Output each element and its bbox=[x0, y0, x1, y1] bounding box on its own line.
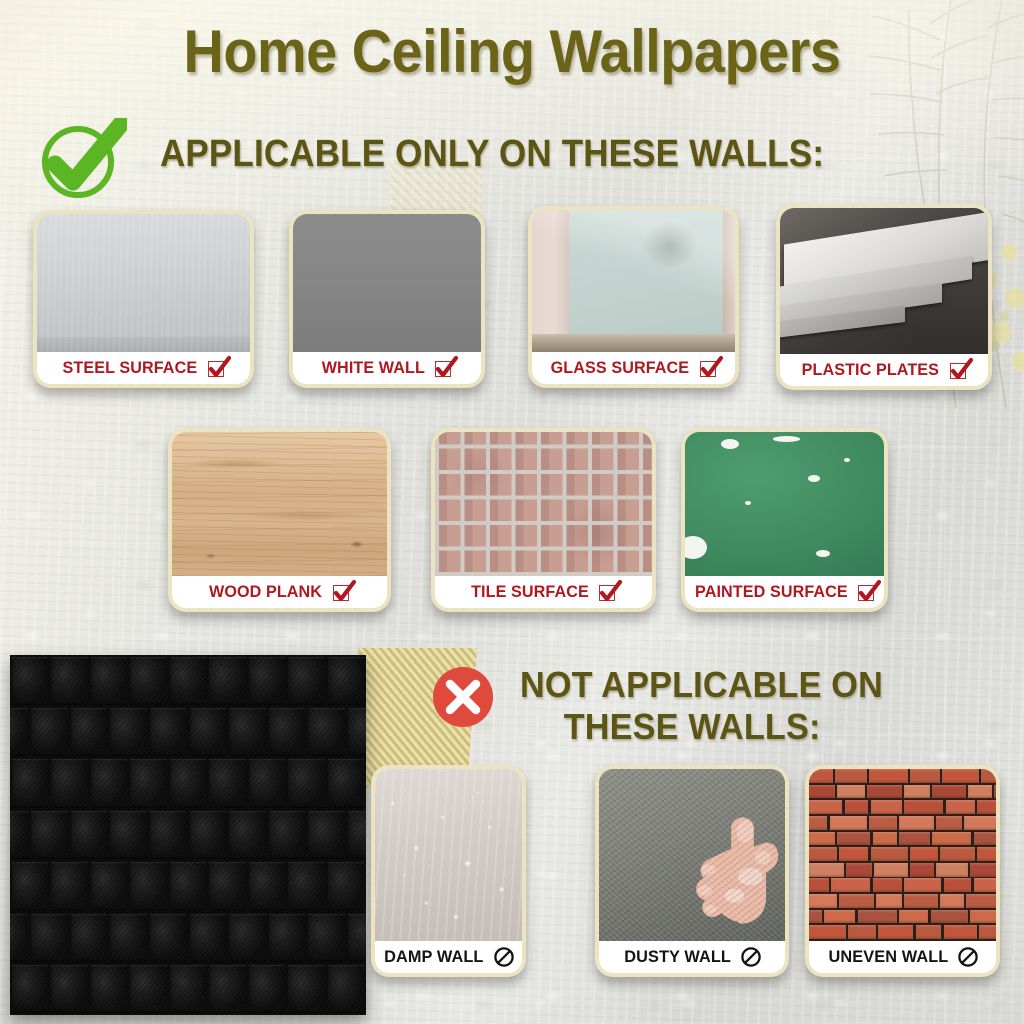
black-brick-foam-panel bbox=[10, 655, 366, 1015]
brick bbox=[936, 816, 962, 830]
brick bbox=[916, 925, 942, 939]
red-checkbox-icon bbox=[435, 359, 455, 378]
brick bbox=[910, 863, 934, 877]
brick bbox=[837, 785, 865, 799]
brick bbox=[809, 800, 842, 814]
tile-damp-wall[interactable]: DAMP WALL bbox=[371, 765, 526, 977]
tile-uneven-wall[interactable]: UNEVEN WALL bbox=[805, 765, 1000, 977]
brick bbox=[873, 832, 897, 846]
brick bbox=[899, 910, 929, 924]
tile-image-tile-surface bbox=[435, 432, 652, 576]
tile-label-glass-surface: GLASS SURFACE bbox=[532, 352, 735, 384]
tile-image-white-wall bbox=[293, 214, 481, 352]
brick bbox=[839, 847, 869, 861]
brick bbox=[837, 832, 870, 846]
brick bbox=[809, 925, 846, 939]
brick bbox=[968, 785, 992, 799]
brick bbox=[809, 878, 829, 892]
tile-white-wall[interactable]: WHITE WALL bbox=[289, 210, 485, 388]
brick bbox=[932, 785, 965, 799]
brick bbox=[848, 925, 876, 939]
not-applicable-heading: NOT APPLICABLE ON THESE WALLS: bbox=[520, 664, 976, 749]
brick bbox=[981, 769, 996, 783]
tile-image-steel-surface bbox=[37, 214, 250, 352]
brick bbox=[966, 894, 996, 908]
brick bbox=[970, 910, 996, 924]
brick bbox=[809, 785, 835, 799]
brick bbox=[910, 769, 940, 783]
brick bbox=[974, 878, 996, 892]
tile-label-white-wall: WHITE WALL bbox=[293, 352, 481, 384]
brick bbox=[835, 769, 866, 783]
brick bbox=[942, 769, 979, 783]
brick bbox=[809, 863, 844, 877]
brick bbox=[994, 785, 996, 799]
brick bbox=[830, 816, 867, 830]
brick bbox=[964, 816, 996, 830]
tile-label-dusty-wall: DUSTY WALL bbox=[599, 941, 785, 973]
tile-label-text: TILE SURFACE bbox=[471, 582, 589, 602]
brick bbox=[858, 910, 897, 924]
tile-image-glass-surface bbox=[532, 210, 735, 352]
brick bbox=[936, 863, 967, 877]
brick bbox=[977, 800, 996, 814]
tile-label-text: DUSTY WALL bbox=[624, 947, 731, 967]
brick bbox=[869, 816, 897, 830]
brick bbox=[946, 800, 976, 814]
tile-label-wood-plank: WOOD PLANK bbox=[172, 576, 387, 608]
not-applicable-heading-line2: THESE WALLS: bbox=[520, 706, 976, 748]
no-entry-icon bbox=[957, 946, 979, 968]
tile-label-damp-wall: DAMP WALL bbox=[375, 941, 522, 973]
tile-label-painted-surface: PAINTED SURFACE bbox=[685, 576, 884, 608]
red-checkbox-icon bbox=[950, 361, 970, 380]
tile-label-text: PAINTED SURFACE bbox=[695, 582, 848, 602]
brick bbox=[974, 832, 996, 846]
brick bbox=[839, 894, 874, 908]
brick bbox=[932, 832, 971, 846]
applicable-heading: APPLICABLE ONLY ON THESE WALLS: bbox=[160, 133, 824, 176]
tile-painted-surface[interactable]: PAINTED SURFACE bbox=[681, 428, 888, 612]
brick bbox=[876, 894, 902, 908]
tile-image-painted-surface bbox=[685, 432, 884, 576]
brick bbox=[931, 910, 968, 924]
hand-illustration bbox=[677, 793, 785, 924]
brick bbox=[873, 878, 903, 892]
brick bbox=[846, 863, 872, 877]
brick bbox=[940, 847, 975, 861]
tile-label-tile-surface: TILE SURFACE bbox=[435, 576, 652, 608]
tile-label-plastic-plates: PLASTIC PLATES bbox=[780, 354, 988, 386]
tile-label-text: DAMP WALL bbox=[384, 947, 483, 967]
tile-image-wood-plank bbox=[172, 432, 387, 576]
tile-label-text: WHITE WALL bbox=[322, 358, 425, 378]
brick bbox=[809, 769, 833, 783]
brick bbox=[979, 925, 996, 939]
tile-glass-surface[interactable]: GLASS SURFACE bbox=[528, 206, 739, 388]
brick bbox=[899, 832, 930, 846]
red-checkbox-icon bbox=[858, 583, 878, 602]
brick bbox=[899, 816, 934, 830]
red-checkbox-icon bbox=[208, 359, 228, 378]
brick bbox=[809, 847, 837, 861]
brick bbox=[944, 925, 977, 939]
brick bbox=[874, 863, 907, 877]
brick bbox=[871, 800, 902, 814]
brick bbox=[809, 832, 835, 846]
tile-label-steel-surface: STEEL SURFACE bbox=[37, 352, 250, 384]
brick bbox=[904, 785, 930, 799]
green-check-circle-icon bbox=[37, 118, 127, 200]
brick bbox=[940, 894, 964, 908]
tile-label-text: STEEL SURFACE bbox=[63, 358, 198, 378]
brick bbox=[831, 878, 870, 892]
brick bbox=[871, 847, 908, 861]
tile-tile-surface[interactable]: TILE SURFACE bbox=[431, 428, 656, 612]
tile-image-damp-wall bbox=[375, 769, 522, 941]
brick bbox=[910, 847, 938, 861]
no-entry-icon bbox=[493, 946, 515, 968]
brick bbox=[944, 878, 972, 892]
tile-image-plastic-plates bbox=[780, 208, 988, 354]
page-title: Home Ceiling Wallpapers bbox=[36, 22, 988, 82]
tile-plastic-plates[interactable]: PLASTIC PLATES bbox=[776, 204, 992, 390]
tile-dusty-wall[interactable]: DUSTY WALL bbox=[595, 765, 789, 977]
tile-label-text: WOOD PLANK bbox=[209, 582, 322, 602]
brick bbox=[824, 910, 855, 924]
red-checkbox-icon bbox=[333, 583, 353, 602]
tile-label-uneven-wall: UNEVEN WALL bbox=[809, 941, 996, 973]
tile-steel-surface[interactable]: STEEL SURFACE bbox=[33, 210, 254, 388]
tile-label-text: PLASTIC PLATES bbox=[802, 360, 939, 380]
red-checkbox-icon bbox=[599, 583, 619, 602]
not-applicable-heading-line1: NOT APPLICABLE ON bbox=[520, 664, 883, 705]
red-checkbox-icon bbox=[700, 359, 720, 378]
brick bbox=[867, 785, 902, 799]
brick bbox=[904, 800, 943, 814]
brick bbox=[904, 894, 937, 908]
tile-label-text: UNEVEN WALL bbox=[828, 947, 948, 967]
brick bbox=[845, 800, 869, 814]
tile-image-dusty-wall bbox=[599, 769, 785, 941]
tile-label-text: GLASS SURFACE bbox=[551, 358, 690, 378]
brick bbox=[809, 816, 827, 830]
brick bbox=[878, 925, 913, 939]
tile-image-uneven-wall bbox=[809, 769, 996, 941]
brick bbox=[809, 910, 822, 924]
no-entry-icon bbox=[740, 946, 762, 968]
brick bbox=[904, 878, 941, 892]
brick bbox=[809, 894, 837, 908]
brick bbox=[970, 863, 996, 877]
brick bbox=[977, 847, 996, 861]
brick bbox=[869, 769, 908, 783]
tile-wood-plank[interactable]: WOOD PLANK bbox=[168, 428, 391, 612]
red-x-circle-icon bbox=[432, 666, 494, 728]
